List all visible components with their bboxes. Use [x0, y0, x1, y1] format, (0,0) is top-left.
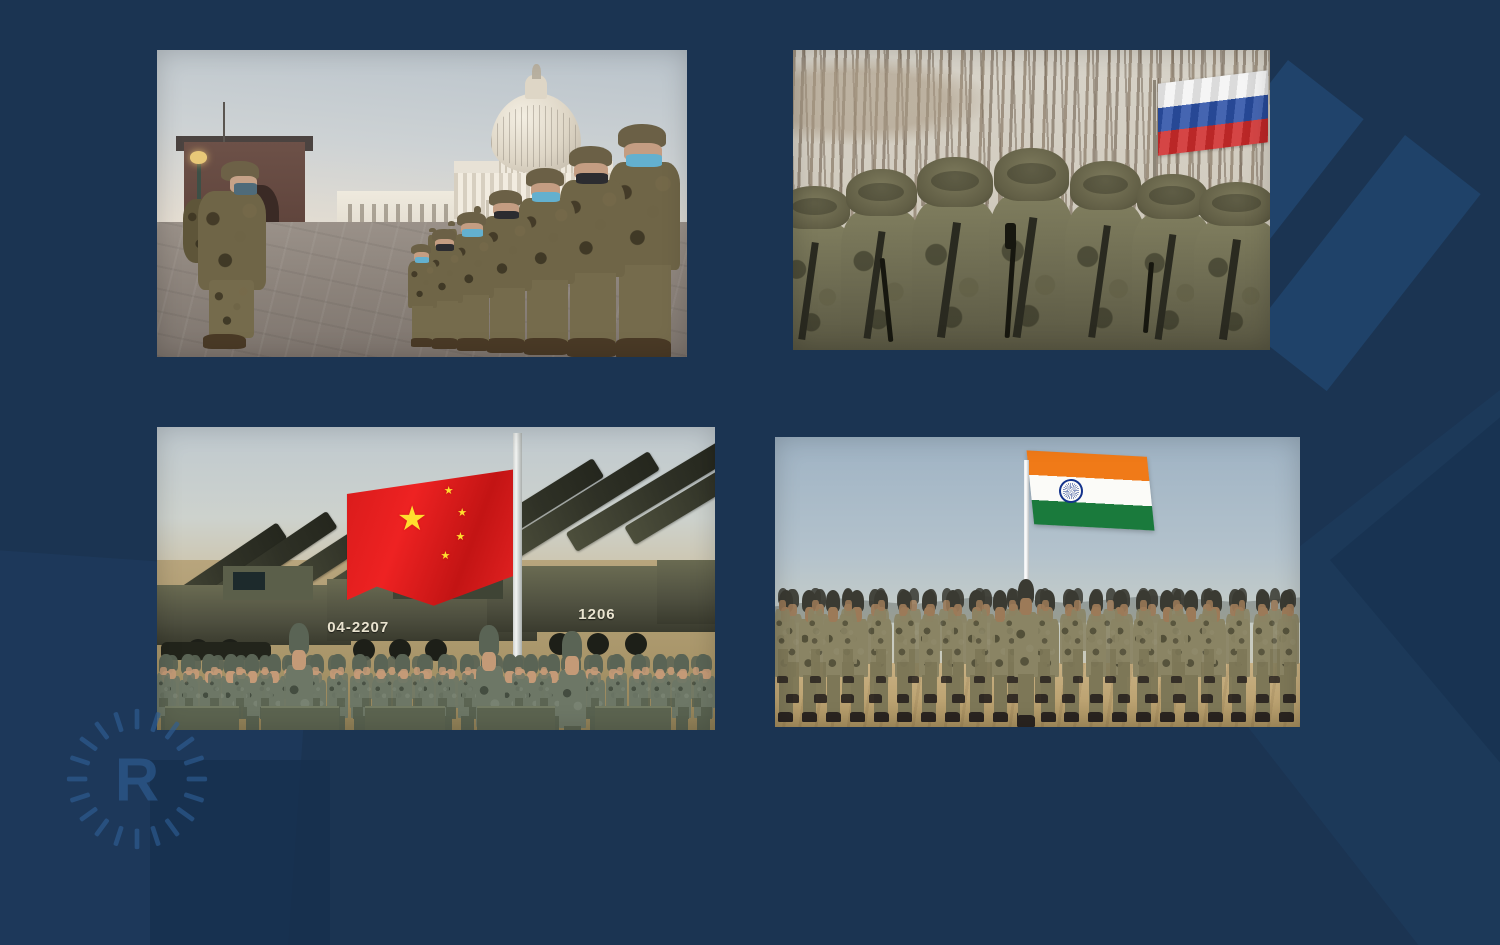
soldier-boots [1112, 712, 1127, 723]
soldier-face [414, 667, 421, 675]
launcher-vehicle [657, 560, 715, 624]
soldier-legs [412, 306, 433, 340]
soldier-legs [1139, 649, 1149, 678]
soldier-boots [810, 676, 821, 684]
soldier-face [541, 667, 548, 675]
soldier-boots [850, 712, 865, 723]
soldier-legs [692, 698, 700, 707]
soldier-face [1107, 600, 1114, 611]
soldier-legs [564, 726, 581, 730]
soldier-face [1258, 604, 1266, 617]
soldier-boots [874, 712, 889, 723]
pla-soldier [664, 656, 678, 708]
soldier-torso [1038, 609, 1053, 651]
soldier-boots [979, 694, 992, 703]
soldier-face [363, 667, 370, 675]
soldier-face [668, 667, 675, 675]
soldier-face-mask [415, 257, 430, 263]
indian-soldier [906, 588, 922, 684]
soldier-torso [639, 673, 652, 699]
soldier-legs [778, 649, 788, 678]
pla-soldier [614, 656, 628, 708]
soldier-torso [183, 673, 196, 699]
pla-officer [559, 631, 587, 730]
soldier-boots [1173, 694, 1186, 703]
soldier-boots [1269, 676, 1280, 684]
soldier-torso [233, 673, 246, 699]
indian-flag-bearer [1014, 579, 1039, 727]
soldier-boots [1231, 712, 1246, 723]
ushanka-hat [1070, 161, 1141, 210]
indian-soldier [1169, 588, 1185, 684]
soldier-legs [464, 698, 472, 707]
russian-soldier [1194, 182, 1270, 350]
soldier-face [1286, 604, 1294, 617]
indian-soldier [1070, 588, 1086, 684]
indian-soldier [1202, 588, 1218, 684]
soldier-torso [559, 670, 585, 728]
soldier-boots [1040, 676, 1051, 684]
indian-soldier [1234, 588, 1250, 684]
parade-plinth [365, 706, 445, 730]
soldier-legs [678, 707, 688, 719]
flag-star-small-3: ★ [456, 532, 466, 543]
soldier-boots [1171, 676, 1182, 684]
soldier-face [439, 667, 446, 675]
indian-soldier [873, 588, 889, 684]
soldier-boots [921, 712, 936, 723]
soldier-face [1206, 600, 1213, 611]
soldier-boots [1073, 676, 1084, 684]
ushanka-hat [994, 148, 1070, 200]
soldier-legs [942, 649, 952, 678]
soldier-torso [198, 191, 266, 290]
soldier-face [1173, 600, 1180, 611]
pla-soldier [258, 656, 272, 708]
soldier-legs [1073, 649, 1083, 678]
soldier-torso [841, 609, 856, 651]
indian-troop-formation [775, 576, 1300, 727]
soldier-face [1140, 600, 1147, 611]
soldier-torso [360, 673, 373, 699]
soldier-face [954, 604, 962, 617]
soldier-boots [1256, 694, 1269, 703]
soldier-legs [811, 649, 821, 678]
photo-chinese-pla-parade: ★ ★ ★ ★ ★ 04-2207 1206 [157, 427, 715, 730]
soldier-torso [614, 673, 627, 699]
soldier-torso [1103, 609, 1118, 651]
pla-soldier [411, 656, 425, 708]
soldier-face [515, 667, 522, 675]
soldier-legs [701, 707, 711, 719]
soldier-torso [907, 609, 922, 651]
flag-star-small-2: ★ [457, 508, 467, 519]
soldier-boots [1138, 676, 1149, 684]
soldier-torso [411, 673, 424, 699]
ushanka-hat [846, 169, 917, 216]
soldier-face-mask [494, 211, 519, 220]
soldier-legs [925, 662, 937, 696]
soldier-face [702, 669, 710, 679]
soldier-boots [802, 712, 817, 723]
soldier-legs [1172, 649, 1182, 678]
soldier-boots [1064, 712, 1079, 723]
soldier-torso [1014, 612, 1038, 677]
soldier-torso [1235, 609, 1250, 651]
soldier-torso [808, 609, 823, 651]
soldier-legs [353, 707, 363, 719]
soldier-torso [408, 261, 437, 308]
soldier-legs [1091, 662, 1103, 696]
soldier-legs [1106, 649, 1116, 678]
soldier-face [400, 669, 408, 679]
soldier-face [1120, 604, 1128, 617]
soldier-boots [841, 694, 854, 703]
soldier-torso [690, 673, 703, 699]
soldier-legs [909, 649, 919, 678]
russian-soldier [912, 157, 998, 350]
soldier-face-mask [626, 154, 662, 167]
soldier-boots [1208, 712, 1223, 723]
soldier-boots [897, 712, 912, 723]
soldier-torso [538, 673, 551, 699]
soldier-boots [1136, 712, 1151, 723]
soldier-face-mask [234, 183, 257, 194]
indian-soldier [939, 588, 955, 684]
pla-soldier [182, 656, 196, 708]
soldier-face [779, 600, 786, 611]
soldier-face [565, 656, 578, 674]
logo-letter: R [115, 745, 159, 814]
soldier-boots [974, 676, 985, 684]
soldier-boots [1017, 715, 1034, 727]
soldier-boots [924, 694, 937, 703]
soldier-face [878, 600, 885, 611]
soldier-torso [1071, 609, 1086, 651]
soldier-boots [1201, 694, 1214, 703]
indian-soldier [1281, 589, 1300, 703]
soldier-legs [1237, 649, 1247, 678]
soldier-boots [1088, 712, 1103, 723]
soldier-face [389, 667, 396, 675]
soldier-legs [975, 649, 985, 678]
indian-soldier [1136, 588, 1152, 684]
soldier-face [482, 652, 496, 671]
russian-soldier-formation [793, 140, 1270, 350]
soldier-torso [588, 673, 601, 699]
soldier-boots [969, 712, 984, 723]
soldier-boots [876, 676, 887, 684]
rudaw-watermark-logo: R [64, 706, 210, 852]
soldier-boots [778, 712, 793, 723]
pla-soldier [588, 656, 602, 708]
soldier-boots [814, 694, 827, 703]
soldier-legs [843, 649, 853, 678]
soldier-boots [1105, 676, 1116, 684]
soldier-torso [874, 609, 889, 651]
indian-soldier [808, 588, 824, 684]
soldier-face [845, 600, 852, 611]
soldier-boots [1184, 712, 1199, 723]
foreground-soldier [189, 161, 279, 351]
soldier-torso [1281, 614, 1299, 664]
soldier-boots [826, 712, 841, 723]
photo-indian-army [775, 437, 1300, 727]
soldier-face [186, 667, 193, 675]
soldier-torso [665, 673, 678, 699]
soldier-face [160, 667, 167, 675]
soldier-face [1042, 600, 1049, 611]
indian-soldier [1267, 588, 1283, 684]
soldier-torso [972, 609, 987, 651]
soldier-boots [1041, 712, 1056, 723]
soldier-face [976, 600, 983, 611]
soldier-face [211, 667, 218, 675]
soldier-face [656, 669, 664, 679]
soldier-legs [209, 280, 254, 337]
soldier-torso [335, 673, 348, 699]
pla-soldier [208, 656, 222, 708]
soldier-torso [775, 609, 790, 651]
vehicle-window [233, 572, 265, 590]
soldier-face [465, 667, 472, 675]
soldier-in-line [407, 244, 439, 347]
soldier-face [423, 669, 431, 679]
pla-soldier [233, 656, 247, 708]
soldier-torso [939, 609, 954, 651]
soldier-face [693, 667, 700, 675]
soldier-legs [1018, 674, 1034, 718]
soldier-boots [897, 694, 910, 703]
soldier-face [338, 667, 345, 675]
soldier-boots [1228, 694, 1241, 703]
rifle-stock [1005, 223, 1016, 249]
soldier-torso [1136, 609, 1151, 651]
soldier-face [910, 600, 917, 611]
pla-soldier [335, 656, 349, 708]
parade-plinth [477, 706, 555, 730]
soldier-legs [876, 649, 886, 678]
pla-soldier [360, 656, 374, 708]
soldier-face [926, 604, 934, 617]
photo-russian-soldiers [793, 50, 1270, 350]
pla-soldier [436, 656, 450, 708]
soldier-legs [1204, 649, 1214, 678]
soldier-boots [941, 676, 952, 684]
soldier-boots [1160, 712, 1175, 723]
soldier-face-mask [532, 192, 561, 202]
soldier-torso [1169, 609, 1184, 651]
soldier-legs [1040, 649, 1050, 678]
pla-soldier [537, 656, 551, 708]
soldier-torso [462, 673, 475, 699]
rooftop-antenna [223, 102, 225, 142]
pla-soldier [461, 656, 475, 708]
ushanka-hat [917, 157, 993, 207]
flag-star-large: ★ [397, 502, 427, 536]
indian-soldier [1103, 588, 1119, 684]
statue-of-freedom [532, 64, 540, 79]
parade-plinth [261, 706, 339, 730]
soldier-boots [945, 712, 960, 723]
soldier-face [292, 650, 306, 670]
parade-plinth [595, 706, 671, 730]
flag-star-small-4: ★ [440, 551, 450, 562]
soldier-face-mask [462, 229, 483, 237]
soldier-boots [843, 676, 854, 684]
soldier-legs [1284, 662, 1296, 696]
pla-soldier [385, 656, 399, 708]
soldier-legs [1270, 649, 1280, 678]
soldier-face [642, 667, 649, 675]
soldier-face-mask [576, 173, 608, 185]
indian-flag [1026, 451, 1154, 531]
soldier-boots [1090, 694, 1103, 703]
soldier-torso [922, 614, 940, 664]
soldier-torso [512, 673, 525, 699]
soldier-boots [1255, 712, 1270, 723]
soldier-torso [259, 673, 272, 699]
ushanka-hat [1199, 182, 1270, 226]
soldier-boots [203, 334, 246, 349]
soldier-boots [1062, 694, 1075, 703]
soldier-line [411, 118, 687, 357]
soldier-face [617, 667, 624, 675]
soldier-boots [993, 712, 1008, 723]
soldier-legs [1118, 662, 1130, 696]
soldier-boots [908, 676, 919, 684]
soldier-face [1074, 600, 1081, 611]
indian-soldier [841, 588, 857, 684]
russian-soldier [989, 148, 1075, 350]
soldier-face [943, 600, 950, 611]
soldier-boots [869, 694, 882, 703]
tree-branches [793, 50, 1012, 152]
indian-soldier [972, 588, 988, 684]
soldier-torso [436, 673, 449, 699]
vehicle-marking-2: 1206 [578, 606, 615, 623]
soldier-boots [1237, 676, 1248, 684]
soldier-face [1271, 600, 1278, 611]
soldier-torso [386, 673, 399, 699]
soldier-face [679, 669, 687, 679]
soldier-boots [777, 676, 788, 684]
soldier-boots [786, 694, 799, 703]
photo-us-national-guard [157, 50, 687, 357]
indian-soldier [922, 589, 941, 703]
soldier-face [262, 667, 269, 675]
soldier-boots [1279, 712, 1294, 723]
soldier-boots [1283, 694, 1296, 703]
soldier-boots [952, 694, 965, 703]
indian-soldier [1038, 588, 1054, 684]
soldier-boots [1118, 694, 1131, 703]
soldier-face [591, 667, 598, 675]
soldier-face [1092, 604, 1100, 617]
soldier-torso [208, 673, 221, 699]
soldier-torso [1202, 609, 1217, 651]
soldier-legs [446, 707, 456, 719]
soldier-face [1239, 600, 1246, 611]
soldier-boots [1204, 676, 1215, 684]
soldier-torso [157, 673, 170, 699]
soldier-face [377, 669, 385, 679]
soldier-torso [1268, 609, 1283, 651]
soldier-boots [1145, 694, 1158, 703]
soldier-face [236, 667, 243, 675]
flag-star-small-1: ★ [444, 486, 454, 497]
soldier-boots [411, 338, 433, 347]
soldier-face [812, 600, 819, 611]
indian-soldier [775, 588, 791, 684]
pla-soldier [639, 656, 653, 708]
soldier-face [1020, 598, 1031, 614]
pla-soldier [690, 656, 704, 708]
pla-soldier [157, 656, 171, 708]
image-canvas: ★ ★ ★ ★ ★ 04-2207 1206 [0, 0, 1500, 945]
pla-soldier [512, 656, 526, 708]
